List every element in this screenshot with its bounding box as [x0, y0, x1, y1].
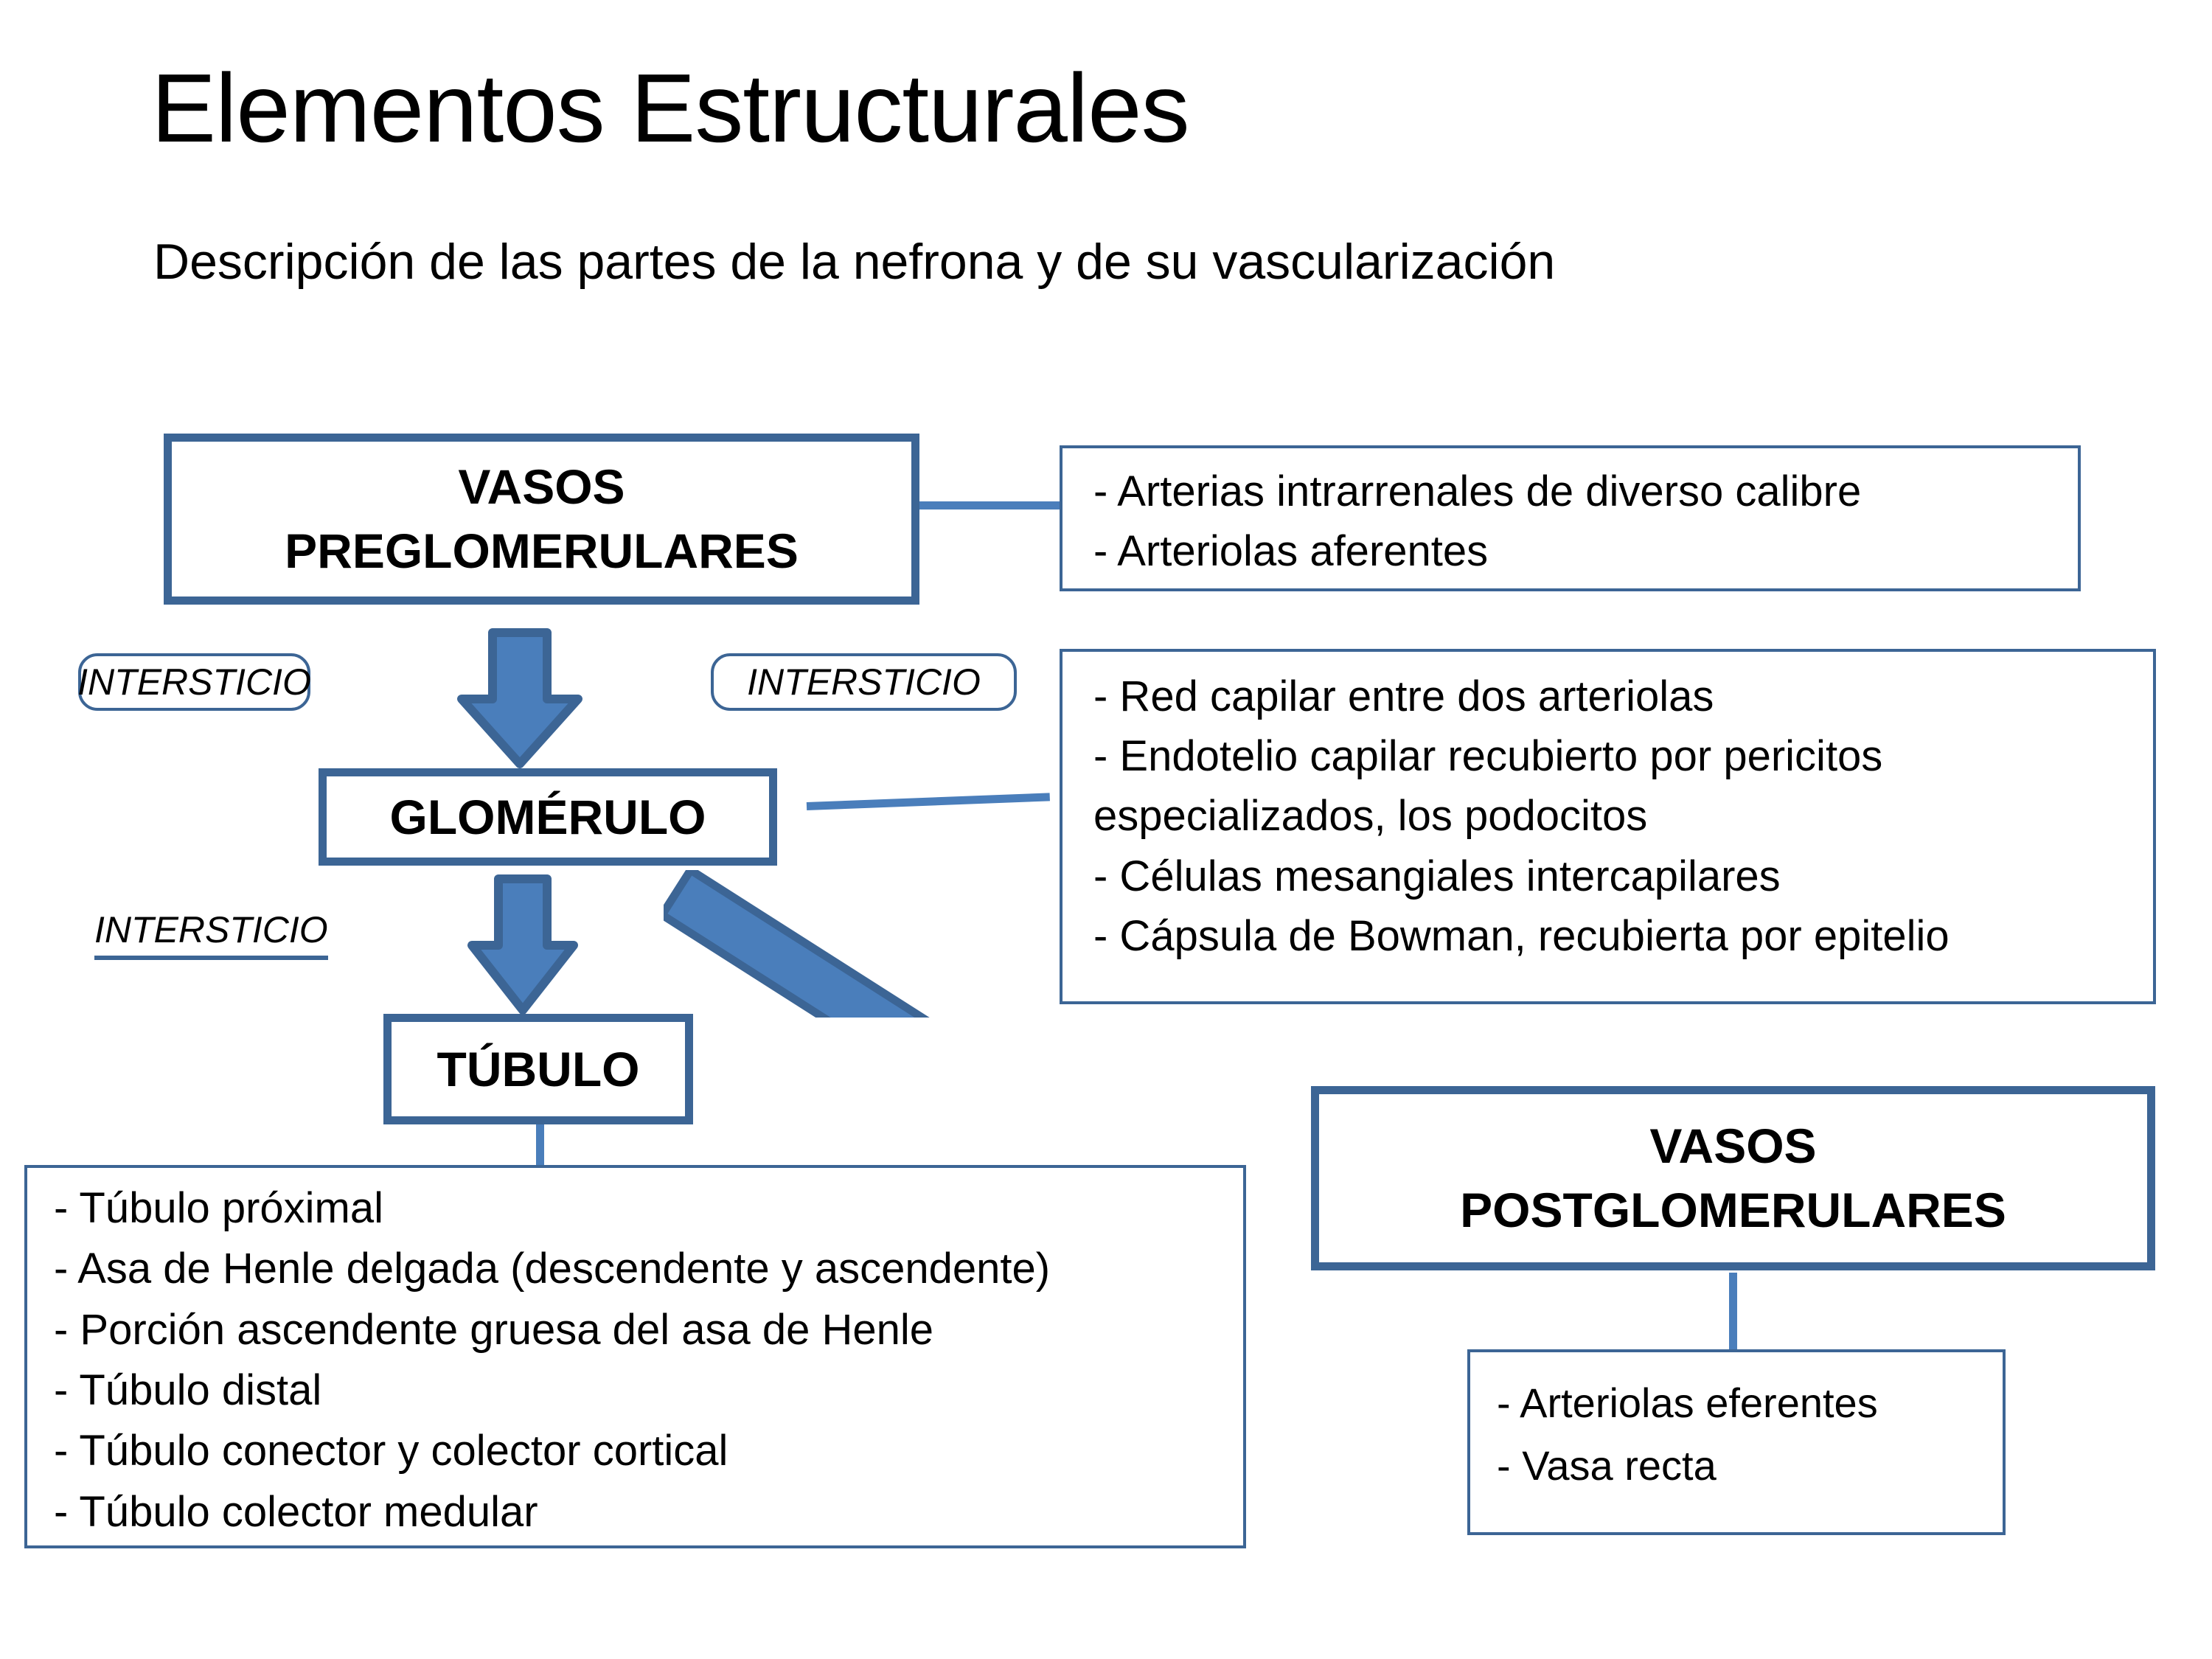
arrow-down-preglomerular-to-glomerulo: [457, 628, 582, 768]
node-label: TÚBULO: [437, 1041, 640, 1097]
interstitium-label-right: INTERSTICIO: [711, 653, 1017, 711]
detail-row: - Túbulo conector y colector cortical: [54, 1421, 1225, 1481]
arrow-down-glomerulo-to-tubulo: [467, 874, 578, 1015]
node-label-line-2: PREGLOMERULARES: [285, 519, 799, 583]
interstitium-text: INTERSTICIO: [747, 661, 981, 703]
interstitium-label-left: INTERSTICIO: [78, 653, 310, 711]
detail-row: - Túbulo próximal: [54, 1178, 1225, 1239]
interstitium-text: INTERSTICIO: [77, 661, 311, 703]
node-label-line-2: POSTGLOMERULARES: [1460, 1178, 2006, 1242]
detail-box-vasos-postglomerulares: - Arteriolas eferentes - Vasa recta: [1467, 1349, 2006, 1535]
node-label-line-1: VASOS: [1649, 1114, 1816, 1178]
detail-row: - Red capilar entre dos arteriolas: [1093, 667, 2131, 726]
node-tubulo[interactable]: TÚBULO: [383, 1014, 693, 1124]
node-label: GLOMÉRULO: [390, 789, 706, 845]
node-vasos-preglomerulares[interactable]: VASOS PREGLOMERULARES: [164, 434, 919, 605]
detail-row: - Arterias intrarrenales de diverso cali…: [1093, 462, 2056, 521]
node-glomerulo[interactable]: GLOMÉRULO: [319, 768, 777, 866]
connector-preglomerular-to-detail: [919, 501, 1064, 509]
slide-canvas: Elementos Estructurales Descripción de l…: [0, 0, 2212, 1659]
node-vasos-postglomerulares[interactable]: VASOS POSTGLOMERULARES: [1311, 1086, 2155, 1270]
node-label-line-1: VASOS: [458, 455, 625, 519]
arrow-diagonal-glomerulo-to-vasos-postglomerulares: [664, 870, 1430, 1018]
page-subtitle: Descripción de las partes de la nefrona …: [153, 236, 1555, 288]
detail-row: - Endotelio capilar recubierto por peric…: [1093, 726, 2131, 846]
detail-row: - Porción ascendente gruesa del asa de H…: [54, 1300, 1225, 1360]
connector-tubulo-to-detail: [536, 1124, 544, 1167]
detail-row: - Arteriolas eferentes: [1497, 1371, 1985, 1434]
detail-box-tubulo: - Túbulo próximal - Asa de Henle delgada…: [24, 1165, 1246, 1548]
detail-box-vasos-preglomerulares: - Arterias intrarrenales de diverso cali…: [1060, 445, 2081, 591]
detail-row: - Arteriolas aferentes: [1093, 521, 2056, 581]
interstitium-label-bottom: INTERSTICIO: [94, 908, 328, 960]
detail-row: - Túbulo colector medular: [54, 1482, 1225, 1543]
detail-row: - Túbulo distal: [54, 1360, 1225, 1421]
detail-row: - Vasa recta: [1497, 1434, 1985, 1497]
connector-postglomerular-to-detail: [1729, 1273, 1737, 1351]
connector-glomerulo-to-detail: [807, 793, 1050, 810]
page-title: Elementos Estructurales: [151, 58, 1189, 160]
detail-row: - Asa de Henle delgada (descendente y as…: [54, 1239, 1225, 1299]
